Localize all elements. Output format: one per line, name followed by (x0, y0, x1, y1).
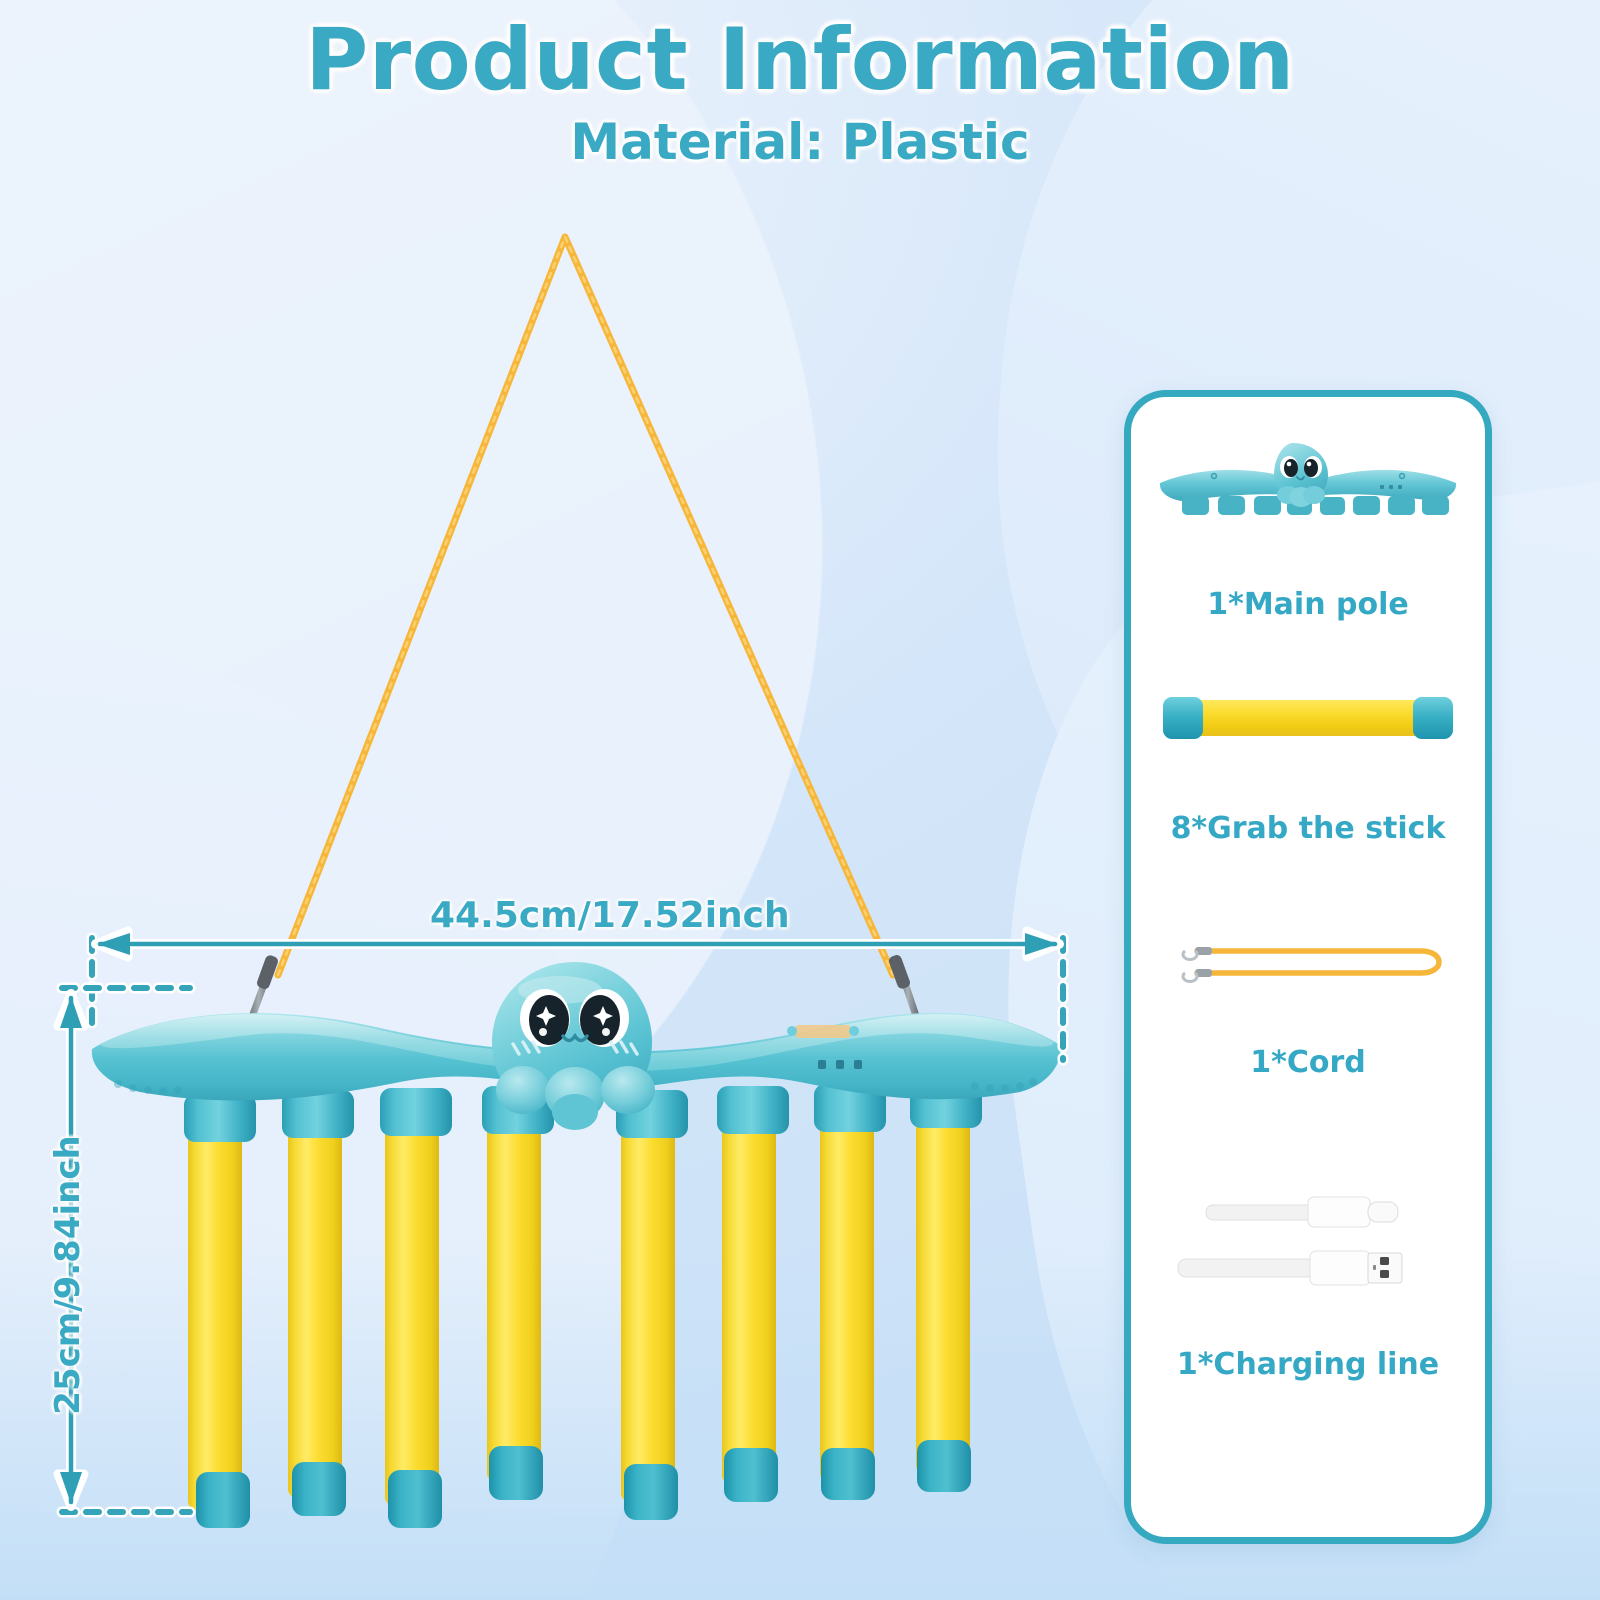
grab-stick-icon (1163, 697, 1453, 739)
parts-item-label: 1*Cord (1131, 1045, 1485, 1080)
height-dimension-label: 25cm/9.84inch (48, 1115, 88, 1435)
page-subtitle: Material: Plastic (0, 113, 1600, 171)
parts-item-charging-line: 1*Charging line (1131, 1177, 1485, 1382)
parts-item-grab-stick: 8*Grab the stick (1131, 697, 1485, 846)
octopus-pole-icon (1131, 433, 1485, 525)
parts-list-panel: 1*Main pole 8*Grab the stick (1124, 390, 1492, 1544)
parts-item-label: 1*Main pole (1131, 587, 1485, 622)
parts-item-label: 1*Charging line (1131, 1347, 1485, 1382)
cord-icon (1163, 937, 1453, 983)
width-dimension-label: 44.5cm/17.52inch (430, 895, 790, 936)
parts-item-label: 8*Grab the stick (1131, 811, 1485, 846)
usb-charging-cable-icon (1158, 1177, 1458, 1297)
product-information-page: Product Information Material: Plastic (0, 0, 1600, 1600)
parts-item-main-pole: 1*Main pole (1131, 433, 1485, 622)
parts-item-cord: 1*Cord (1131, 937, 1485, 1080)
header-block: Product Information Material: Plastic (0, 14, 1600, 171)
page-title: Product Information (0, 14, 1600, 107)
